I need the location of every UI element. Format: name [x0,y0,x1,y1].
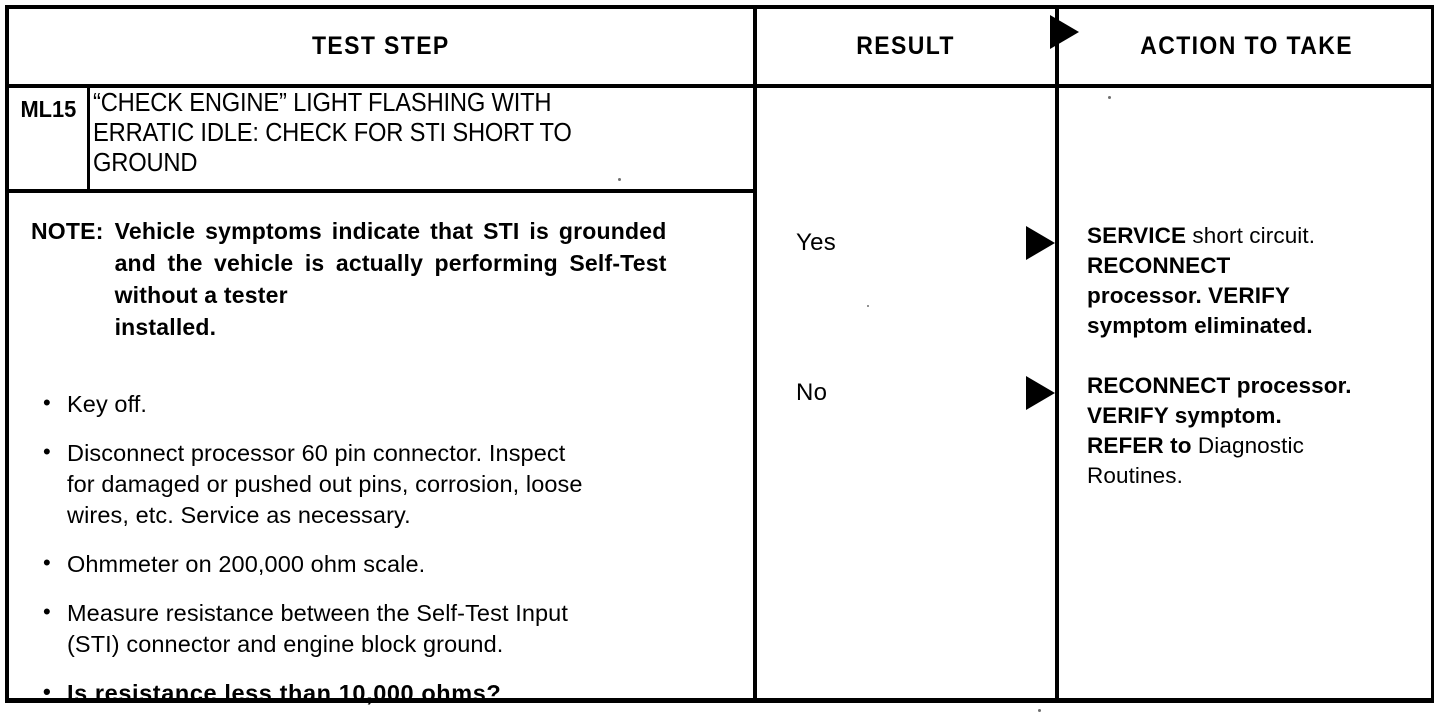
page-canvas: TEST STEP RESULT ACTION TO TAKE ML15 “CH… [0,0,1440,714]
action-line: Routines. [1087,461,1432,491]
list-item: Ohmmeter on 200,000 ohm scale. [31,549,735,580]
list-item-line: wires, etc. Service as necessary. [67,500,735,531]
action-block-no: RECONNECT processor. VERIFY symptom. REF… [1087,371,1432,491]
test-step-title: “CHECK ENGINE” LIGHT FLASHING WITH ERRAT… [93,88,702,178]
list-item-line: for damaged or pushed out pins, corrosio… [67,469,735,500]
action-line-emphasis: SERVICE [1087,223,1186,248]
note-text: Vehicle symptoms indicate that STI is gr… [115,215,667,375]
list-item-line: Measure resistance between the Self-Test… [67,598,735,629]
note-block: NOTE: Vehicle symptoms indicate that STI… [31,215,735,375]
pinpoint-test-table: TEST STEP RESULT ACTION TO TAKE ML15 “CH… [5,5,1434,703]
action-line: RECONNECT [1087,251,1432,281]
action-line-emphasis: VERIFY symptom. [1087,403,1282,428]
test-step-body: NOTE: Vehicle symptoms indicate that STI… [9,193,753,698]
action-line: VERIFY symptom. [1087,401,1432,431]
action-line-emphasis: RECONNECT [1087,253,1230,278]
right-triangle-icon [1026,226,1055,260]
list-item-line: Disconnect processor 60 pin connector. I… [67,438,735,469]
action-column: SERVICE short circuit. RECONNECT process… [1059,88,1438,698]
code-cell-divider [87,88,90,189]
action-line-rest: short circuit. [1186,223,1315,248]
action-line: SERVICE short circuit. [1087,221,1432,251]
result-row-no[interactable]: No [757,376,1055,410]
result-label-no: No [757,379,827,407]
test-step-list: Key off. Disconnect processor 60 pin con… [31,389,735,709]
note-label: NOTE: [31,215,115,375]
note-text-lastline: installed. [115,311,667,343]
action-line-emphasis: RECONNECT processor. [1087,373,1352,398]
list-item-text: Is resistance less than 10,000 ohms? [67,680,501,706]
result-row-yes[interactable]: Yes [757,226,1055,260]
header-cell-action-to-take: ACTION TO TAKE [1059,9,1434,84]
scan-artifact [867,305,869,307]
list-item-text: Key off. [67,391,147,417]
header-label-test-step: TEST STEP [312,32,450,61]
right-triangle-icon [1026,376,1055,410]
test-step-title-cell: “CHECK ENGINE” LIGHT FLASHING WITH ERRAT… [93,88,748,189]
note-text-main: Vehicle symptoms indicate that STI is gr… [115,218,667,308]
action-line: processor. VERIFY [1087,281,1432,311]
scan-artifact [1038,709,1041,712]
action-line-emphasis: processor. VERIFY [1087,283,1290,308]
list-item: Disconnect processor 60 pin connector. I… [31,438,735,531]
action-line: REFER to Diagnostic [1087,431,1432,461]
scan-artifact [1108,96,1111,99]
test-step-code: ML15 [20,96,76,123]
header-label-action-to-take: ACTION TO TAKE [1140,32,1353,61]
header-label-result: RESULT [857,32,956,61]
header-cell-test-step: TEST STEP [9,9,753,84]
list-item-line: (STI) connector and engine block ground. [67,629,735,660]
list-item: Key off. [31,389,735,420]
action-line-emphasis: symptom eliminated. [1087,313,1313,338]
scan-artifact [618,178,621,181]
result-column: Yes No [757,88,1055,698]
action-line: RECONNECT processor. [1087,371,1432,401]
action-line-rest: Diagnostic [1192,433,1304,458]
action-block-yes: SERVICE short circuit. RECONNECT process… [1087,221,1432,341]
action-line: symptom eliminated. [1087,311,1432,341]
result-label-yes: Yes [757,229,836,257]
list-item-text: Ohmmeter on 200,000 ohm scale. [67,551,425,577]
list-item: Measure resistance between the Self-Test… [31,598,735,660]
action-line-emphasis: REFER to [1087,433,1192,458]
test-step-code-cell: ML15 [9,88,87,189]
action-line-rest: Routines. [1087,463,1183,488]
header-cell-result: RESULT [757,9,1055,84]
list-item: Is resistance less than 10,000 ohms? [31,678,735,709]
